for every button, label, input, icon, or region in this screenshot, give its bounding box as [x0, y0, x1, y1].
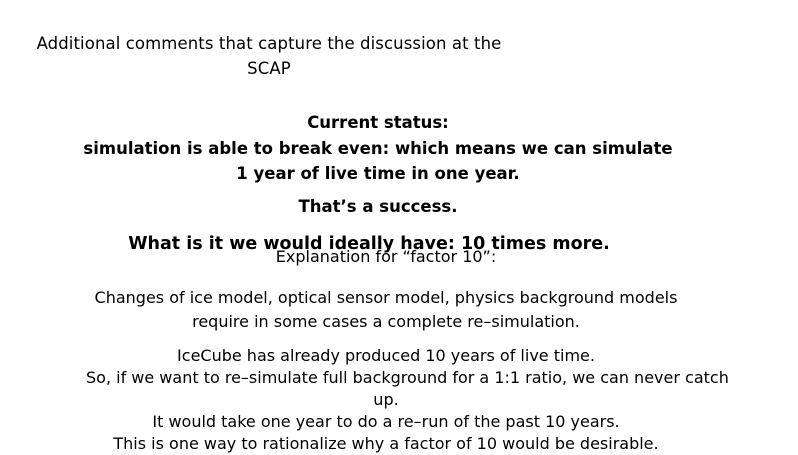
- model-changes-line-1: Changes of ice model, optical sensor mod…: [86, 286, 686, 310]
- slide-title-line-2: SCAP: [0, 56, 538, 81]
- icecube-rationale-block: IceCube has already produced 10 years of…: [86, 345, 686, 455]
- icecube-rationale-line-1: IceCube has already produced 10 years of…: [86, 345, 686, 367]
- explanation-heading-block: Explanation for “factor 10”:: [86, 245, 686, 269]
- success-statement-block: That’s a success.: [78, 194, 678, 219]
- icecube-rationale-line-5: This is one way to rationalize why a fac…: [86, 433, 686, 455]
- current-status-heading: Current status:: [78, 110, 678, 136]
- icecube-rationale-line-4: It would take one year to do a re–run of…: [86, 411, 686, 433]
- success-statement-line: That’s a success.: [78, 194, 678, 219]
- slide-title-block: Additional comments that capture the dis…: [0, 31, 538, 81]
- current-status-line-2: 1 year of live time in one year.: [78, 161, 678, 187]
- slide-canvas: Additional comments that capture the dis…: [0, 0, 798, 448]
- explanation-heading: Explanation for “factor 10”:: [86, 245, 686, 269]
- current-status-line-1: simulation is able to break even: which …: [78, 136, 678, 162]
- icecube-rationale-line-2: So, if we want to re–simulate full backg…: [86, 367, 686, 389]
- model-changes-block: Changes of ice model, optical sensor mod…: [86, 286, 686, 334]
- current-status-block: Current status: simulation is able to br…: [78, 110, 678, 187]
- slide-title-line-1: Additional comments that capture the dis…: [0, 31, 538, 56]
- model-changes-line-2: require in some cases a complete re–simu…: [86, 310, 686, 334]
- icecube-rationale-line-3: up.: [86, 389, 686, 411]
